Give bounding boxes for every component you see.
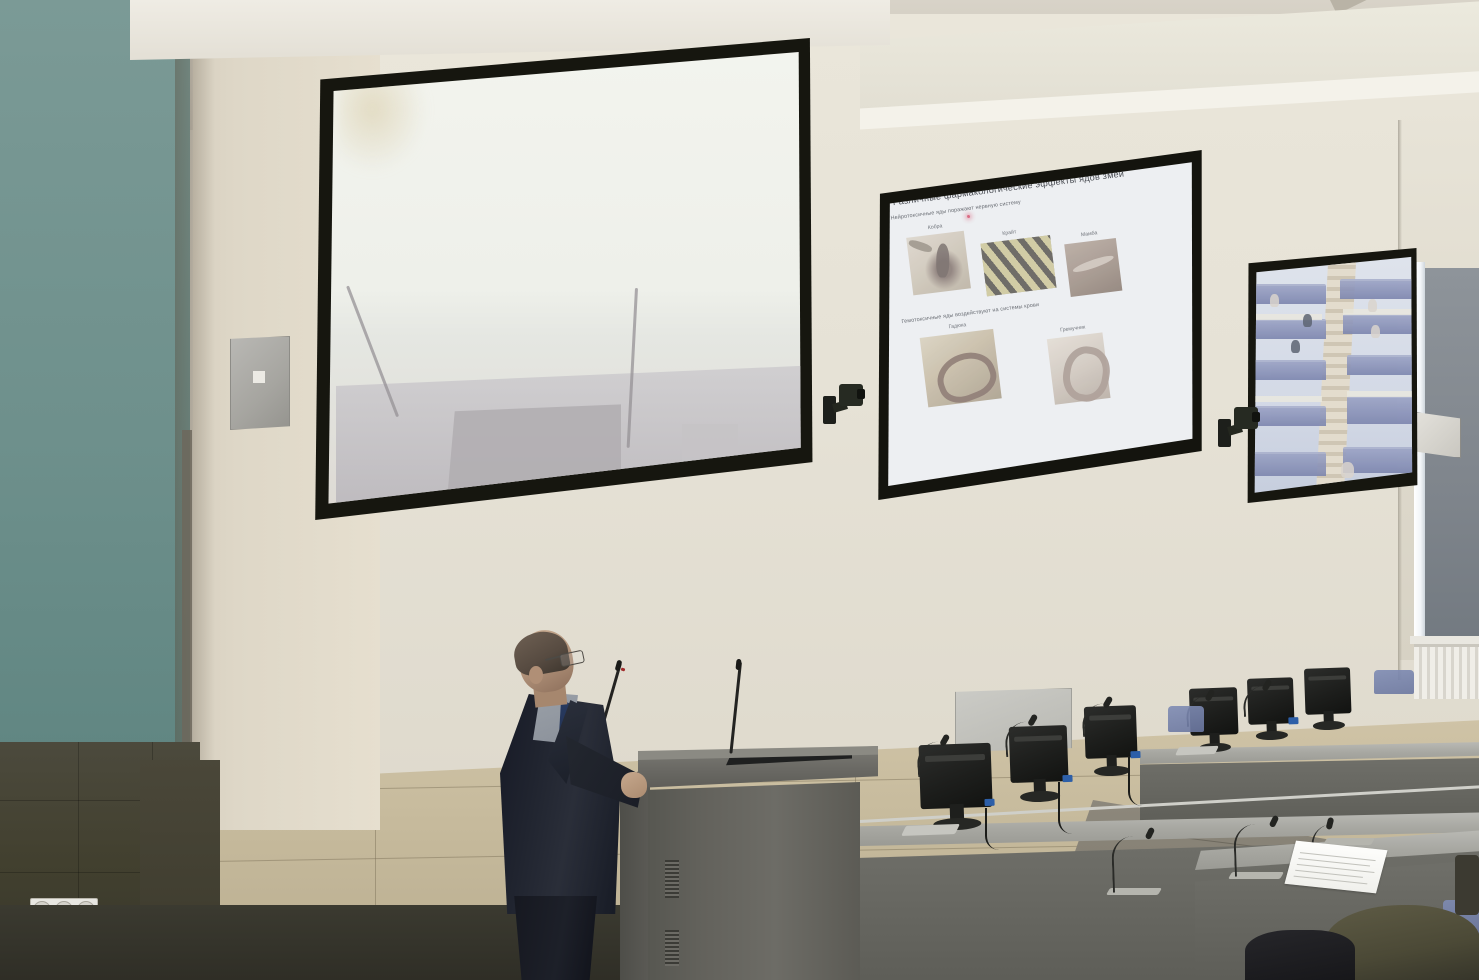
- chair-blue: [1168, 706, 1204, 732]
- camera-lens: [1252, 412, 1260, 422]
- camera-lens: [857, 389, 865, 399]
- slide-image-viper: [920, 329, 1002, 408]
- wall-camera-right-icon: [1218, 405, 1258, 447]
- wall-speaker-right-icon: [1415, 412, 1461, 458]
- feed-desk-row: [1245, 396, 1322, 402]
- presenter-hand: [621, 772, 647, 798]
- projection-screen-right[interactable]: [1245, 248, 1420, 503]
- feed-seat-row: [1347, 355, 1421, 375]
- pillar-shadow: [175, 18, 215, 818]
- laser-pointer-dot: [967, 215, 970, 218]
- vga-connector: [984, 799, 994, 806]
- presenter-ear: [529, 666, 543, 684]
- feed-seat-row: [1252, 284, 1326, 304]
- feed-attendee: [1270, 294, 1279, 307]
- mic-base-plate: [1175, 746, 1219, 755]
- monitor-base: [1313, 721, 1345, 731]
- feed-desk-row: [1347, 391, 1421, 397]
- screen-surface-right: [1245, 248, 1420, 503]
- slide-image-rattlesnake: [1047, 332, 1111, 404]
- radiator: [1414, 644, 1479, 699]
- speaker-cone: [253, 371, 265, 383]
- monitor-base: [1094, 766, 1130, 777]
- vga-connector: [1288, 717, 1298, 724]
- monitor-base: [1256, 731, 1288, 741]
- foreground-object: [1455, 855, 1479, 915]
- projection-screen-left[interactable]: [305, 38, 815, 520]
- feed-seat-row: [1343, 447, 1420, 473]
- feed-attendee: [1341, 462, 1354, 478]
- feed-attendee: [1371, 325, 1380, 338]
- foreground-attendee: [1245, 930, 1355, 980]
- podium-vent: [665, 860, 679, 898]
- feed-attendee: [1368, 299, 1377, 312]
- feed-seat-row: [1245, 360, 1326, 380]
- feed-attendee: [1303, 314, 1312, 327]
- screen-surface-left: [305, 38, 815, 520]
- feed-attendee: [1291, 340, 1300, 353]
- wall-speaker-left-icon: [230, 336, 290, 430]
- chair-blue: [1374, 670, 1414, 694]
- slide-image-krait: [980, 235, 1056, 296]
- monitor-base: [1020, 791, 1060, 803]
- slide-image-mamba: [1064, 238, 1122, 297]
- podium-body: [648, 782, 860, 980]
- feed-seat-row: [1249, 319, 1326, 339]
- paper-sheet[interactable]: [1284, 841, 1387, 894]
- projection-screen-center[interactable]: Различные фармакологические эффекты ядов…: [875, 150, 1205, 500]
- monitor-cable: [985, 808, 1021, 850]
- teal-side-wall: [0, 0, 190, 790]
- slide-image-cobra: [906, 231, 971, 296]
- feed-seat-row: [1340, 279, 1414, 299]
- slide-content: Различные фармакологические эффекты ядов…: [855, 131, 1226, 519]
- feed-desk-row: [1343, 309, 1413, 315]
- feed-seat-row: [1245, 452, 1326, 476]
- monitor-stand-strip: [1308, 676, 1346, 681]
- gooseneck-microphone-front[interactable]: [1111, 835, 1155, 892]
- lecture-hall-scene: Различные фармакологические эффекты ядов…: [0, 0, 1479, 980]
- feed-seat-row: [1347, 396, 1421, 424]
- podium-vent: [665, 930, 679, 966]
- monitor-back-3[interactable]: [1304, 667, 1352, 731]
- monitor-cable: [1128, 756, 1160, 806]
- monitor-panel: [1304, 667, 1352, 714]
- wall-camera-left-icon: [823, 382, 869, 428]
- monitor-cable: [1058, 782, 1094, 834]
- gooseneck-microphone-front[interactable]: [1233, 823, 1279, 877]
- window-sill: [1410, 636, 1479, 644]
